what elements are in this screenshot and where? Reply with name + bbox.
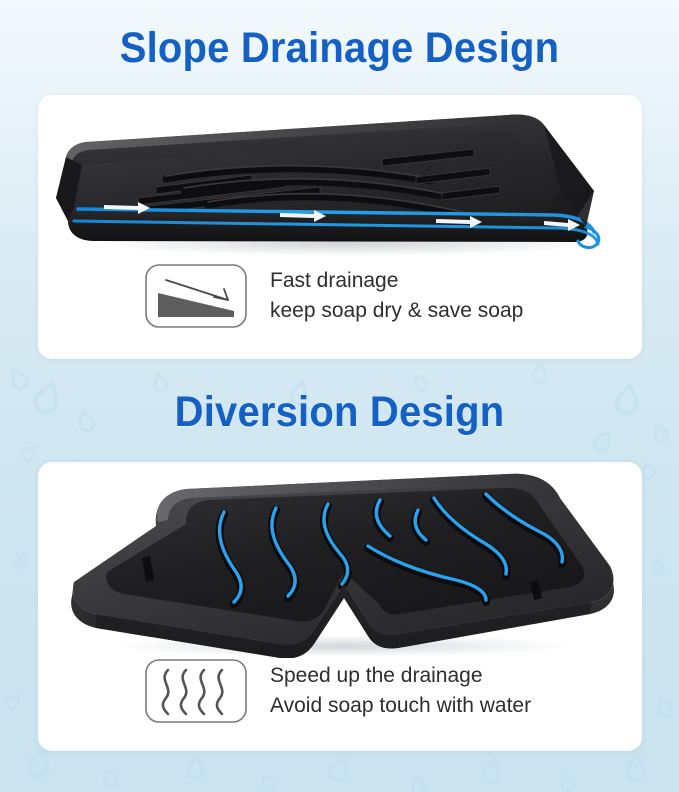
caption-line-1: Fast drainage [270, 266, 523, 296]
caption-text-diversion: Speed up the drainage Avoid soap touch w… [270, 661, 531, 721]
slope-wedge-icon [144, 263, 248, 329]
card-diversion-design: Speed up the drainage Avoid soap touch w… [38, 462, 642, 751]
caption-line-2: Avoid soap touch with water [270, 691, 531, 721]
section-title-slope: Slope Drainage Design [24, 24, 655, 73]
soap-dish-side-view-photo [38, 95, 642, 263]
caption-text-slope: Fast drainage keep soap dry & save soap [270, 266, 523, 326]
card-slope-drainage: Fast drainage keep soap dry & save soap [38, 95, 642, 359]
caption-row-slope: Fast drainage keep soap dry & save soap [144, 263, 523, 329]
soap-dish-top-view-photo [38, 462, 642, 658]
wavy-flow-lines-icon [144, 658, 248, 724]
infographic-page: Slope Drainage Design [0, 0, 679, 792]
caption-line-1: Speed up the drainage [270, 661, 531, 691]
caption-row-diversion: Speed up the drainage Avoid soap touch w… [144, 658, 531, 724]
caption-line-2: keep soap dry & save soap [270, 296, 523, 326]
section-title-diversion: Diversion Design [24, 388, 655, 437]
